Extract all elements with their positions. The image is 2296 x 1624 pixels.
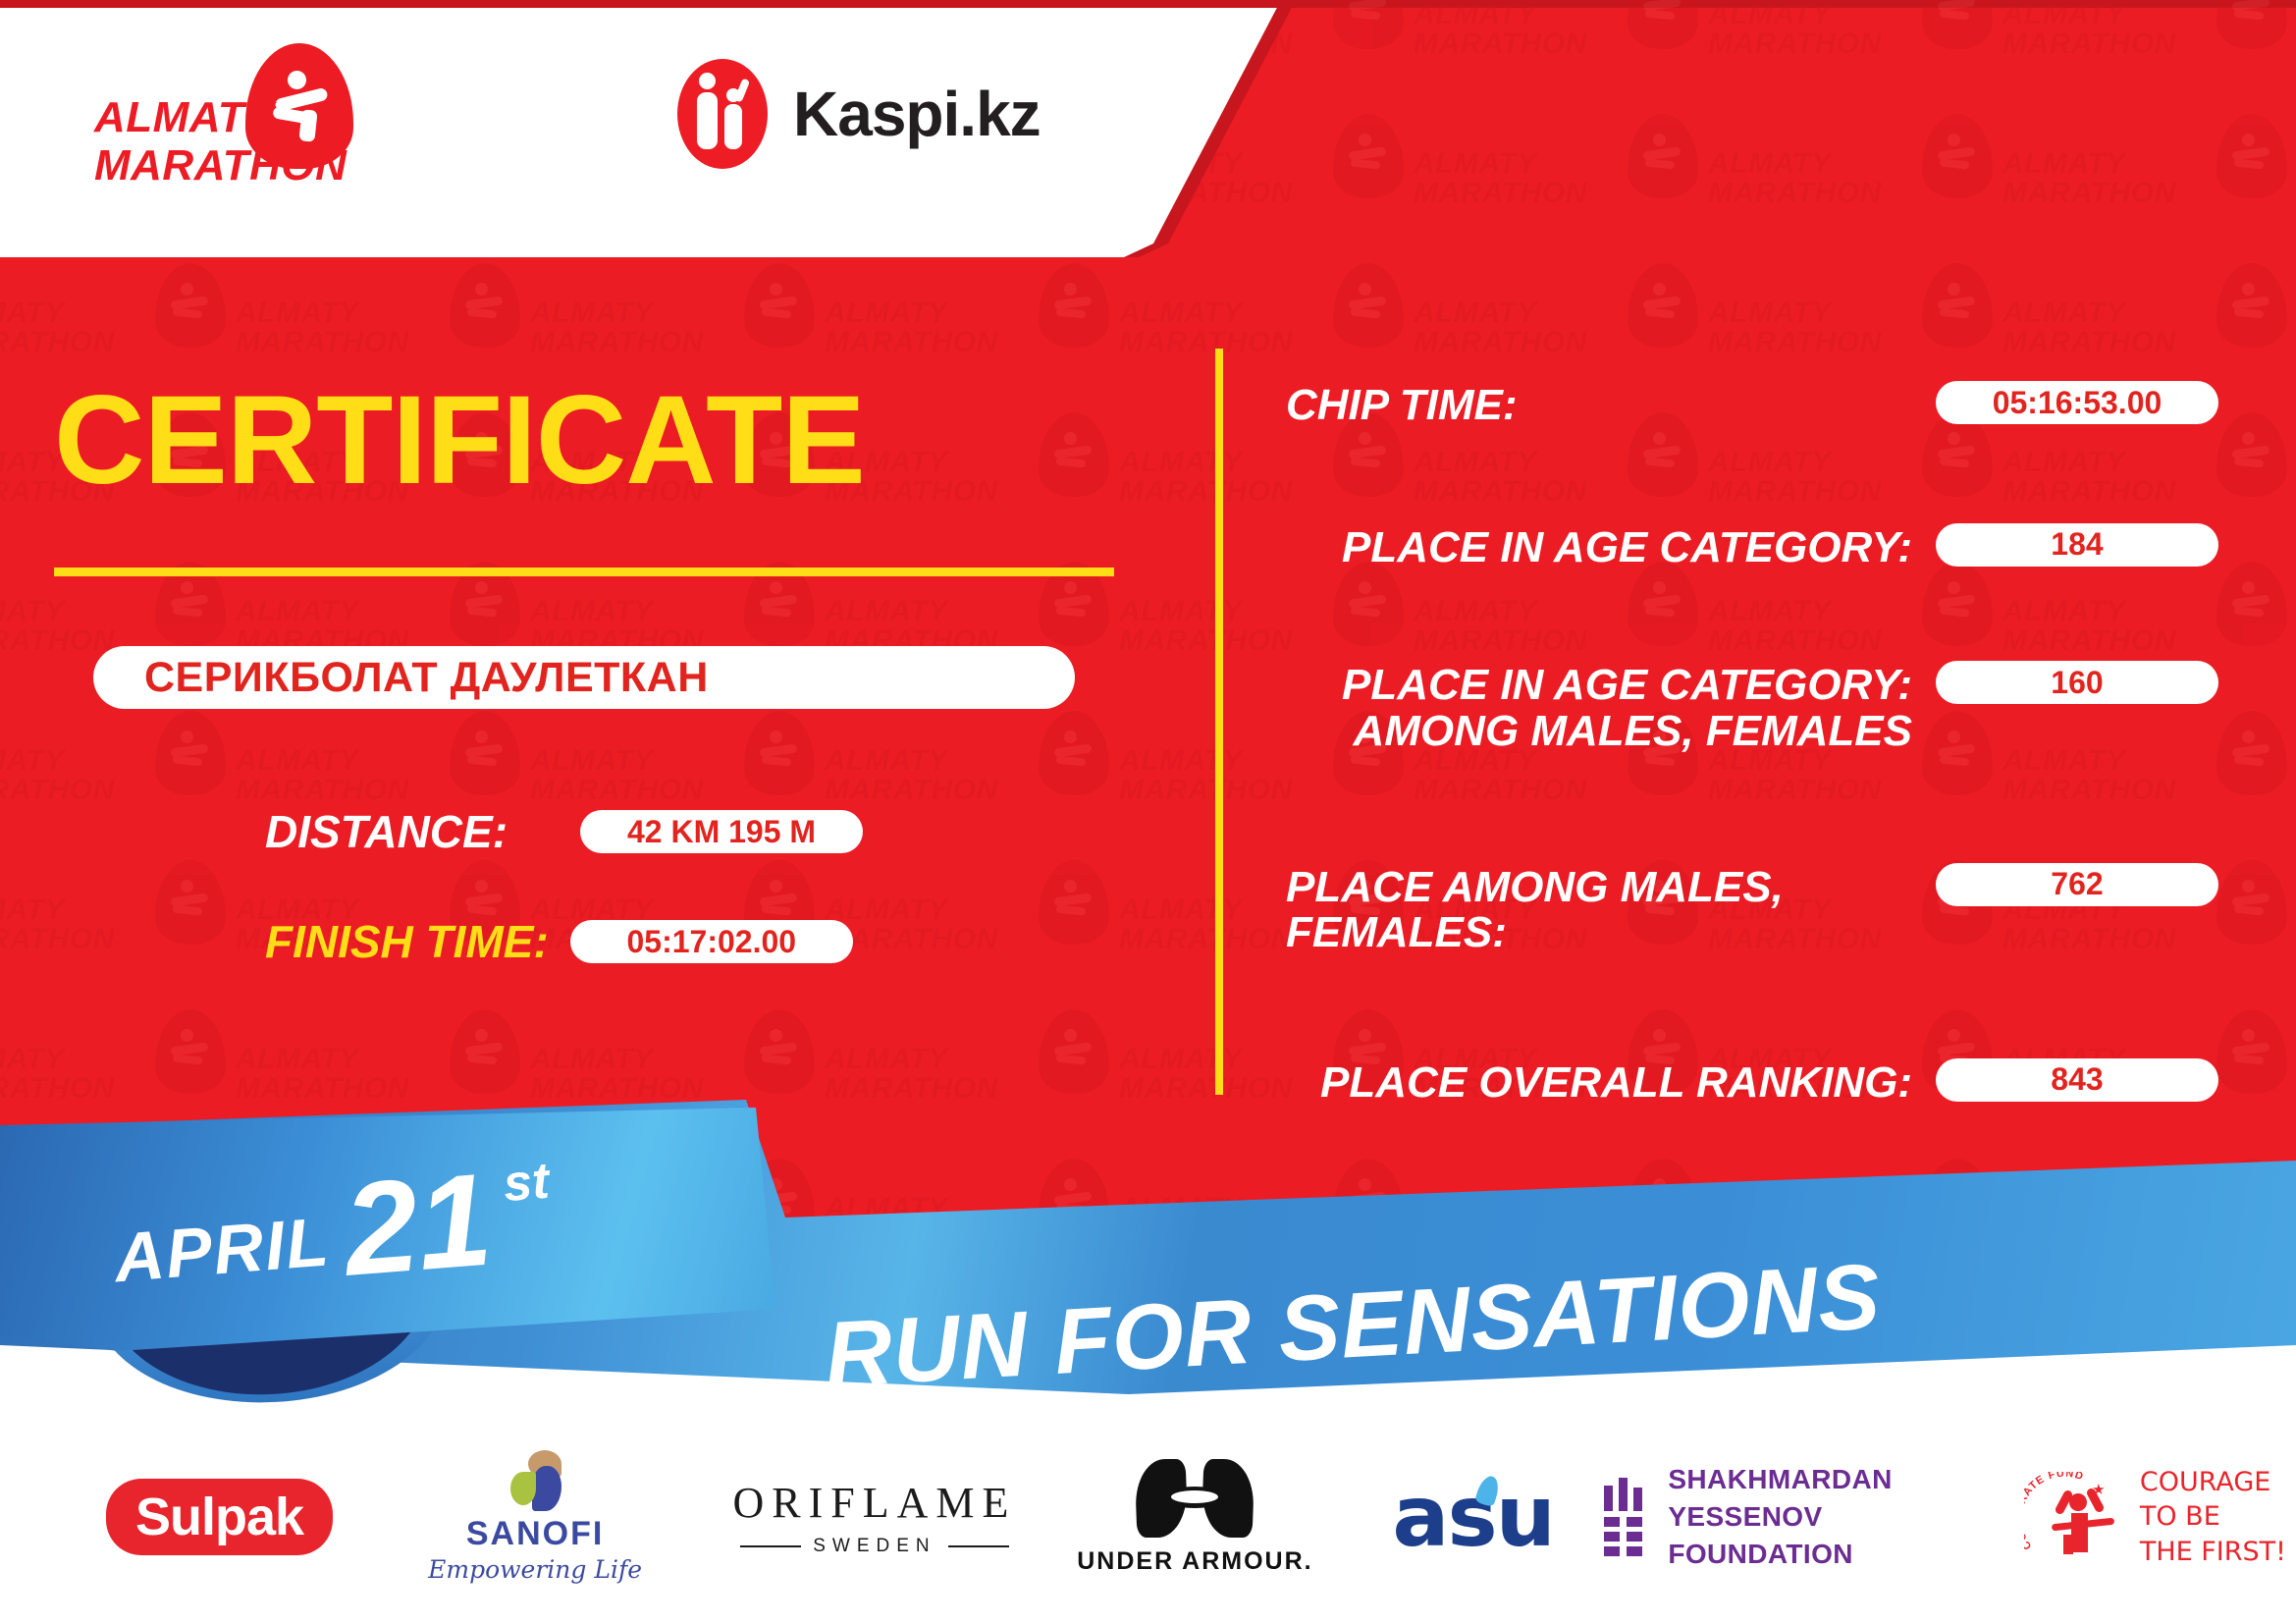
finish-time-label: FINISH TIME: [265, 915, 549, 968]
place-age-category-among-value: 160 [2051, 665, 2103, 701]
chip-time-label: CHIP TIME: [1286, 381, 1936, 429]
stat-row-place-among-males-females: PLACE AMONG MALES, FEMALES: 762 [1286, 863, 2218, 956]
under-armour-icon [1136, 1459, 1254, 1538]
yessenov-wordmark: SHAKHMARDAN YESSENOV FOUNDATION [1668, 1461, 2004, 1572]
almaty-marathon-line2: MARATHON [94, 144, 347, 188]
finish-time-row: FINISH TIME: 05:17:02.00 [265, 915, 853, 968]
kaspi-people-icon [677, 59, 768, 169]
stat-row-place-age-category: PLACE IN AGE CATEGORY: 184 [1286, 523, 2218, 571]
sanofi-wordmark: SANOFI [466, 1515, 604, 1553]
watermark-tile: ALMATYMARATHON [825, 408, 1119, 554]
place-overall-value: 843 [2051, 1061, 2103, 1098]
place-age-category-among-line2: AMONG MALES, FEMALES [1286, 709, 1912, 755]
watermark-tile: ALMATYMARATHON [1414, 110, 1708, 255]
watermark-tile: ALMATYMARATHON [1708, 110, 2002, 255]
almaty-marathon-line1: ALMATY [94, 96, 274, 139]
watermark-tile: ALMATYMARATHON [2002, 110, 2296, 255]
finish-time-value-pill: 05:17:02.00 [570, 920, 853, 963]
watermark-tile: ALMATYMARATHON [825, 856, 1119, 1001]
place-age-category-among-label: PLACE IN AGE CATEGORY: AMONG MALES, FEMA… [1286, 661, 1936, 754]
oriflame-wordmark: ORIFLAME [732, 1478, 1016, 1528]
courage-line2: TO BE [2140, 1499, 2286, 1534]
sponsor-yessenov-foundation: SHAKHMARDAN YESSENOV FOUNDATION [1600, 1461, 2004, 1572]
page-title: CERTIFICATE [54, 378, 865, 504]
sponsor-strip: Sulpak SANOFI Empowering Life ORIFLAME S… [0, 1429, 2296, 1605]
watermark-tile: ALMATYMARATHON [2002, 0, 2296, 106]
title-underline [54, 568, 1114, 576]
watermark-tile: ALMATYMARATHON [0, 856, 236, 1001]
asu-logo: asu [1392, 1468, 1553, 1566]
stat-row-chip-time: CHIP TIME: 05:16:53.00 [1286, 381, 2218, 429]
certificate-page: ALMATYMARATHONALMATYMARATHONALMATYMARATH… [0, 0, 2296, 1624]
watermark-tile: ALMATYMARATHON [825, 259, 1119, 405]
distance-value: 42 KM 195 M [580, 814, 863, 850]
place-among-males-value: 762 [2051, 866, 2103, 902]
oriflame-rule-left [740, 1545, 801, 1547]
oriflame-sub: SWEDEN [740, 1536, 1008, 1557]
courage-line3: THE FIRST! [2140, 1535, 2286, 1569]
place-age-category-label: PLACE IN AGE CATEGORY: [1286, 523, 1936, 571]
sponsor-sanofi: SANOFI Empowering Life [380, 1450, 690, 1584]
runner-figure-icon [271, 71, 332, 135]
watermark-tile: ALMATYMARATHON [1708, 0, 2002, 106]
header: ALMATY MARATHON Kaspi.kz [0, 0, 1276, 257]
event-ribbon: APRIL 21 st RUN FOR SENSATIONS [0, 1100, 2296, 1424]
yessenov-bars-icon [1600, 1478, 1646, 1556]
place-among-males-line1: PLACE AMONG MALES, [1286, 865, 1912, 911]
sponsor-asu: asu [1356, 1468, 1590, 1566]
event-day: 21 [341, 1163, 496, 1287]
courage-fund-wordmark: COURAGE TO BE THE FIRST! [2140, 1465, 2286, 1568]
place-age-category-value: 184 [2051, 526, 2103, 563]
courage-fund-icon: CORPORATE FUND [2024, 1466, 2126, 1568]
place-among-males-value-pill: 762 [1936, 863, 2218, 906]
place-age-category-among-value-pill: 160 [1936, 661, 2218, 704]
event-day-ordinal: st [502, 1152, 557, 1274]
watermark-tile: ALMATYMARATHON [0, 707, 236, 852]
watermark-tile: ALMATYMARATHON [825, 707, 1119, 852]
oriflame-rule-right [948, 1545, 1009, 1547]
participant-name-field: СЕРИКБОЛАТ ДАУЛЕТКАН [93, 646, 1075, 709]
courage-runner-icon [2059, 1484, 2110, 1554]
chip-time-value-pill: 05:16:53.00 [1936, 381, 2218, 424]
place-overall-value-pill: 843 [1936, 1058, 2218, 1102]
place-among-males-line2: FEMALES: [1286, 910, 1912, 956]
event-month: APRIL [112, 1202, 334, 1305]
sponsor-under-armour: UNDER ARMOUR. [1054, 1459, 1336, 1576]
sponsor-oriflame: ORIFLAME SWEDEN [720, 1478, 1030, 1557]
yessenov-line1: SHAKHMARDAN YESSENOV [1668, 1461, 2004, 1536]
stat-row-place-age-category-among: PLACE IN AGE CATEGORY: AMONG MALES, FEMA… [1286, 661, 2218, 754]
vertical-divider [1215, 349, 1223, 1095]
distance-row: DISTANCE: 42 KM 195 M [265, 805, 863, 858]
place-among-males-label: PLACE AMONG MALES, FEMALES: [1286, 863, 1936, 956]
sponsor-courage-fund: CORPORATE FUND COURAGE TO BE THE FIRST! [2014, 1465, 2296, 1568]
sanofi-tagline: Empowering Life [428, 1555, 642, 1584]
distance-value-pill: 42 KM 195 M [580, 810, 863, 853]
yessenov-line2: FOUNDATION [1668, 1536, 2004, 1573]
under-armour-wordmark: UNDER ARMOUR. [1077, 1547, 1312, 1576]
asu-wordmark: asu [1392, 1468, 1553, 1566]
sponsor-sulpak: Sulpak [79, 1479, 360, 1555]
oriflame-country: SWEDEN [813, 1536, 935, 1557]
kaspi-wordmark: Kaspi.kz [793, 78, 1041, 150]
place-age-category-among-line1: PLACE IN AGE CATEGORY: [1286, 663, 1912, 709]
courage-line1: COURAGE [2140, 1465, 2286, 1499]
finish-time-value: 05:17:02.00 [570, 924, 853, 960]
stats-column: CHIP TIME: 05:16:53.00 PLACE IN AGE CATE… [1286, 363, 2218, 1106]
almaty-marathon-logo: ALMATY MARATHON [88, 41, 393, 179]
chip-time-value: 05:16:53.00 [1993, 385, 2163, 421]
sulpak-wordmark: Sulpak [106, 1479, 333, 1555]
place-age-category-value-pill: 184 [1936, 523, 2218, 567]
distance-label: DISTANCE: [265, 805, 507, 858]
watermark-tile: ALMATYMARATHON [1414, 0, 1708, 106]
sanofi-bird-icon [503, 1450, 567, 1511]
participant-name-value: СЕРИКБОЛАТ ДАУЛЕТКАН [93, 654, 709, 702]
kaspi-logo: Kaspi.kz [677, 59, 1041, 169]
